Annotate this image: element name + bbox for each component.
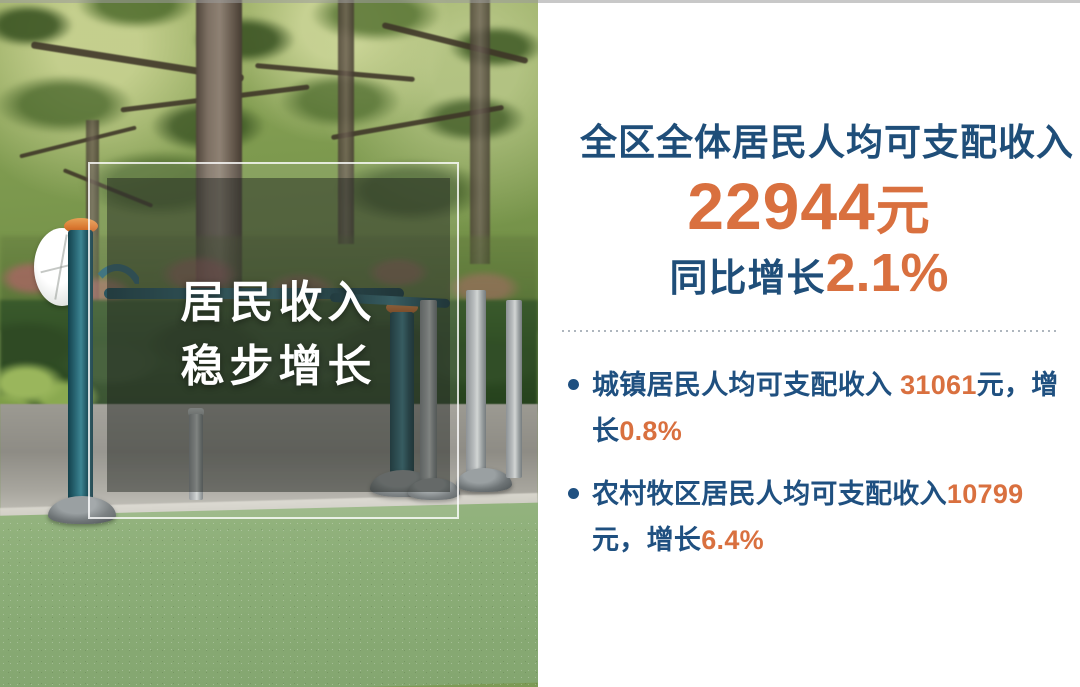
overlay-title-block: 居民收入 稳步增长 (107, 178, 450, 492)
bullet-text-before: 农村牧区居民人均可支配收入 (592, 479, 947, 509)
bullet-text-before: 城镇居民人均可支配收入 (592, 370, 900, 400)
bullet-growth: 6.4% (701, 525, 764, 555)
big-value: 22944 (687, 169, 876, 243)
list-item: 城镇居民人均可支配收入 31061元，增长0.8% (560, 362, 1068, 455)
infographic-slide: 居民收入 稳步增长 全区全体居民人均可支配收入 22944元 同比增长2.1% … (0, 0, 1080, 687)
steel-post (466, 290, 486, 478)
panel-headline: 全区全体居民人均可支配收入 (580, 122, 1068, 163)
top-edge-line (0, 0, 1080, 3)
big-value-unit: 元 (876, 181, 931, 241)
overlay-title-line-2: 稳步增长 (181, 338, 377, 396)
park-photo: 居民收入 稳步增长 (0, 0, 538, 687)
bullet-value: 31061 (900, 370, 977, 400)
bullet-value: 10799 (947, 479, 1024, 509)
bullet-dot-icon (568, 379, 579, 390)
bullet-growth: 0.8% (619, 416, 682, 446)
growth-label: 同比增长 (669, 258, 825, 300)
overlay-title-line-1: 居民收入 (181, 274, 377, 332)
bullet-dot-icon (568, 488, 579, 499)
stats-panel: 全区全体居民人均可支配收入 22944元 同比增长2.1% 城镇居民人均可支配收… (538, 0, 1080, 687)
list-item: 农村牧区居民人均可支配收入10799元，增长6.4% (560, 471, 1068, 564)
steel-post (506, 300, 522, 478)
bullet-list: 城镇居民人均可支配收入 31061元，增长0.8% 农村牧区居民人均可支配收入1… (560, 362, 1068, 564)
bullet-text-middle: 元，增长 (592, 525, 701, 555)
turf-texture (0, 520, 538, 687)
growth-value: 2.1% (825, 243, 948, 303)
tree-trunk (470, 0, 490, 264)
dotted-divider (560, 330, 1058, 332)
growth-row: 同比增长2.1% (538, 246, 1080, 301)
big-value-row: 22944元 (538, 172, 1080, 242)
